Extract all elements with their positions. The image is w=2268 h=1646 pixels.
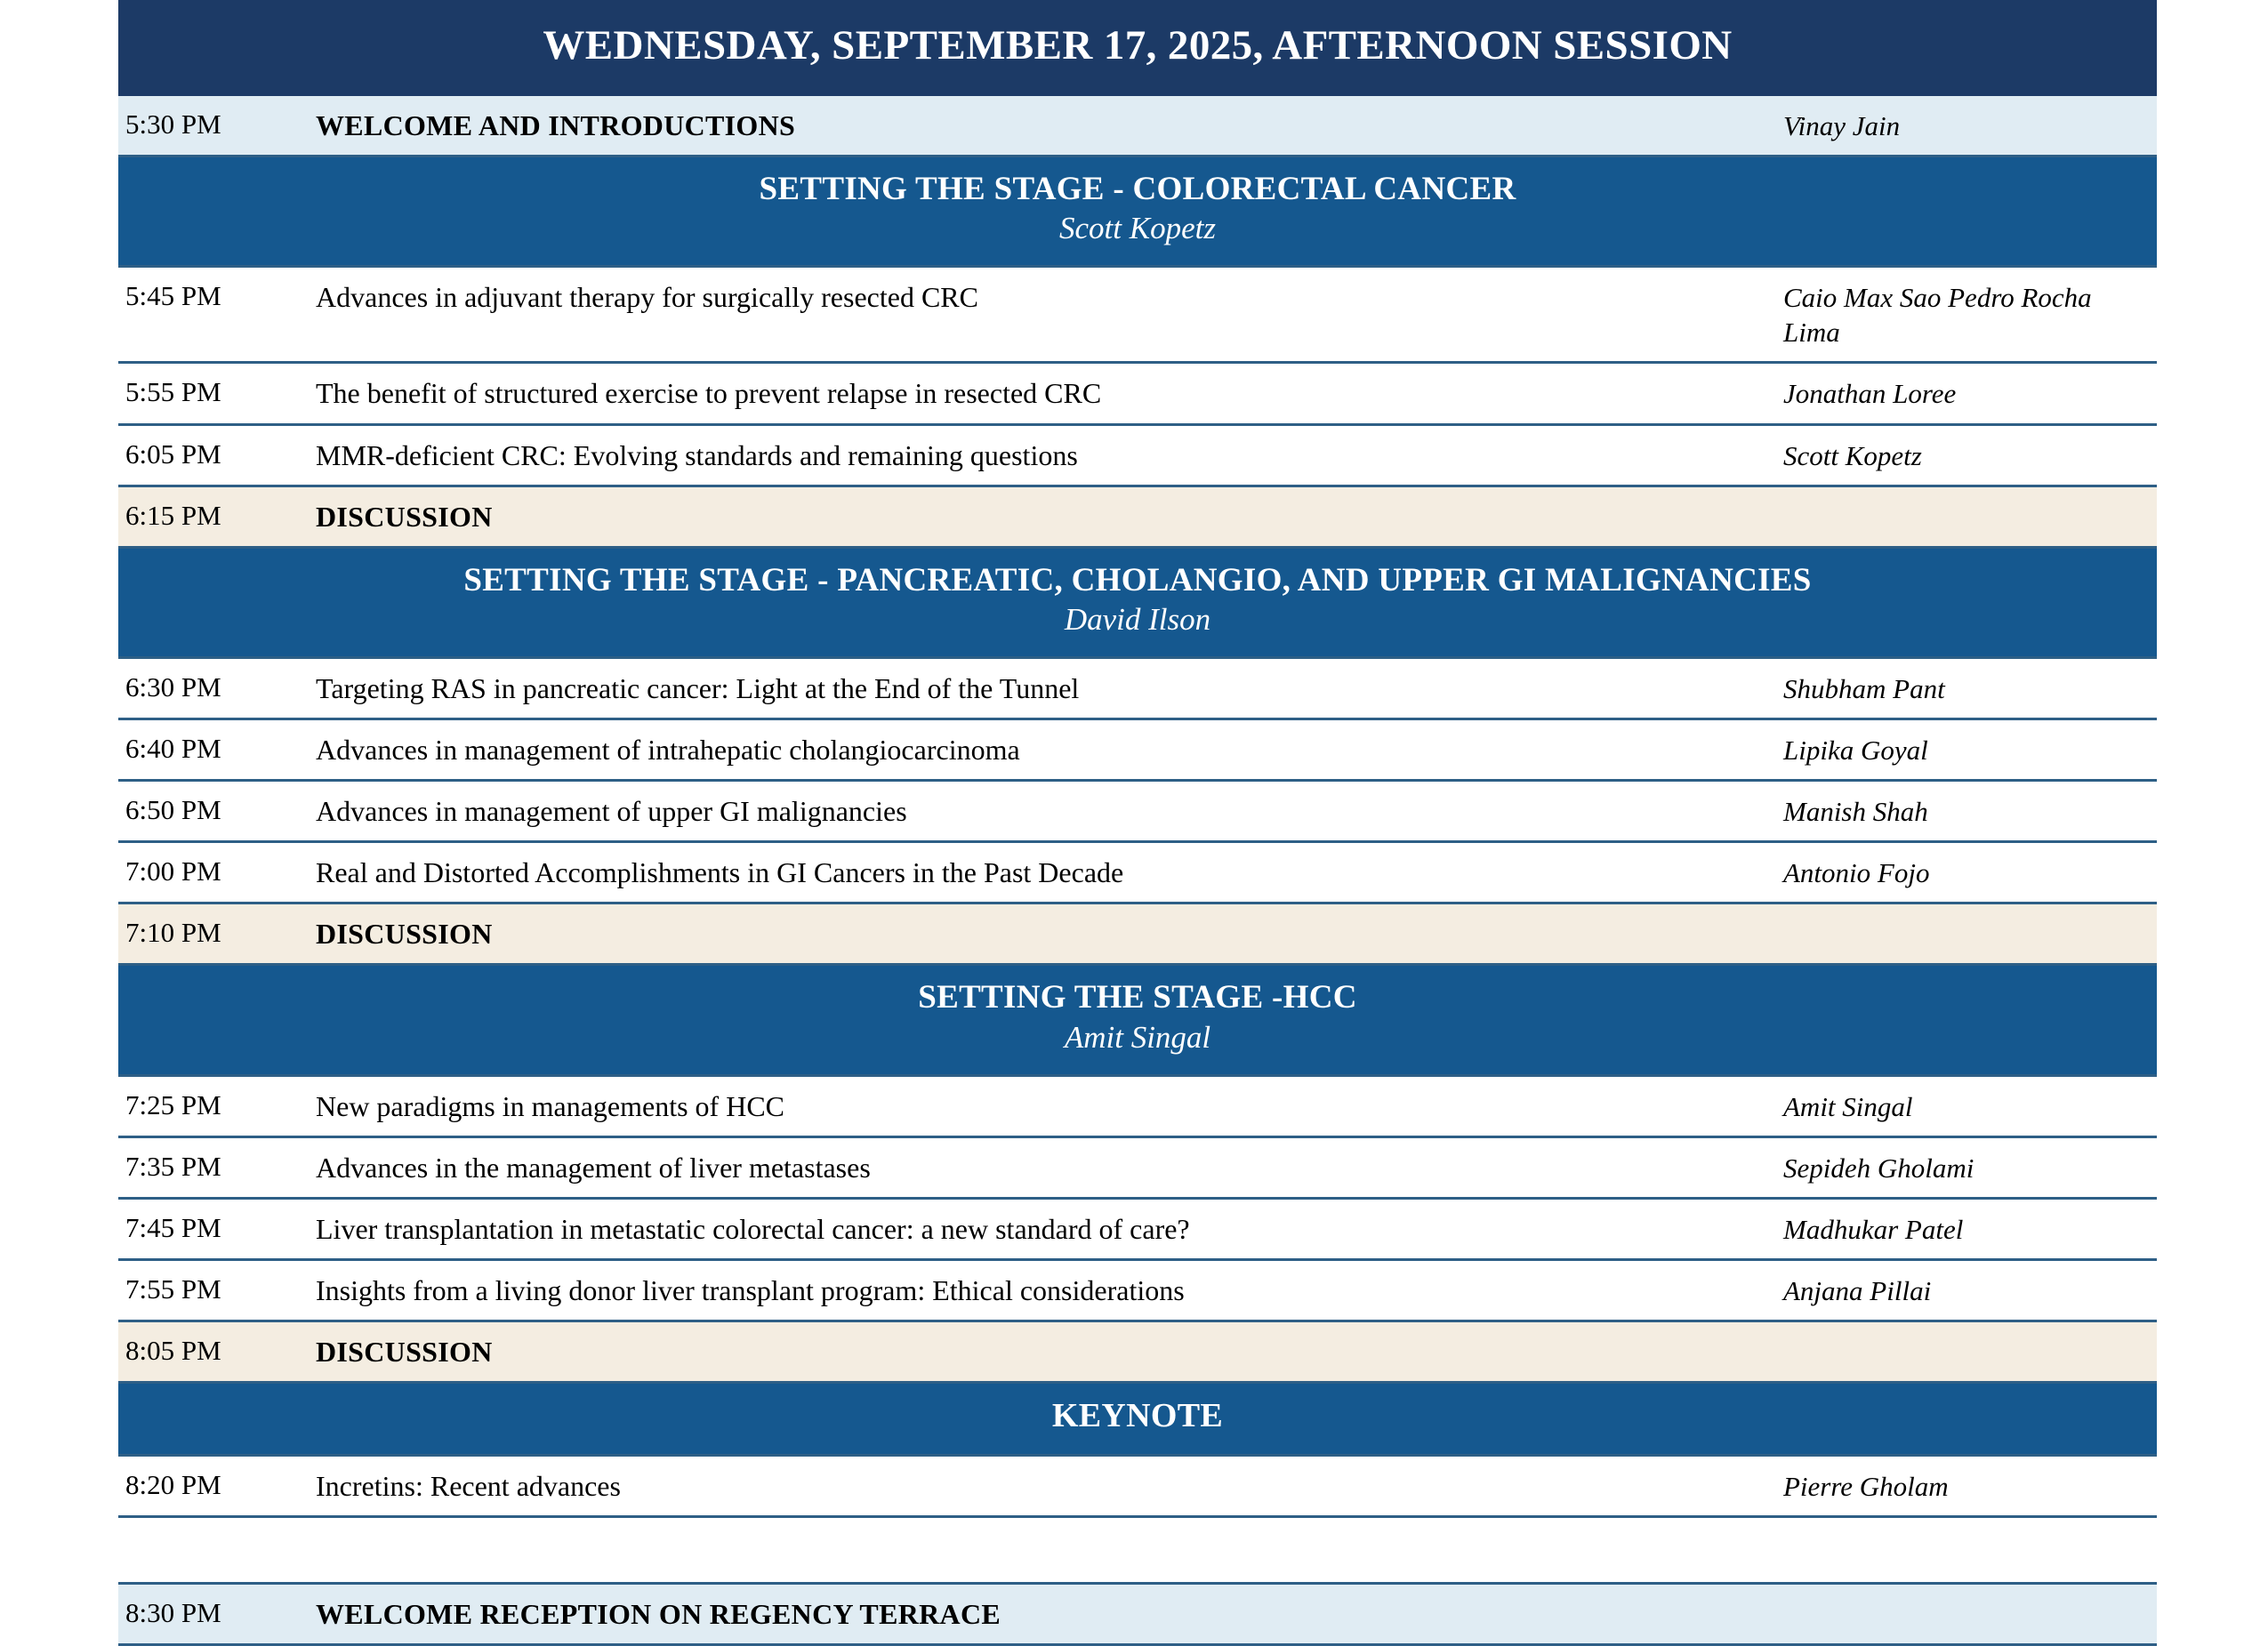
section-header: KEYNOTE — [118, 1384, 2157, 1457]
row-speaker: Vinay Jain — [1783, 96, 2157, 155]
row-title: Advances in the management of liver meta… — [316, 1138, 1783, 1197]
row-speaker: Lipika Goyal — [1783, 720, 2157, 779]
row-time: 7:25 PM — [118, 1077, 316, 1133]
row-title: DISCUSSION — [316, 487, 1783, 546]
agenda-row: 8:20 PMIncretins: Recent advancesPierre … — [118, 1457, 2157, 1518]
row-time: 5:55 PM — [118, 364, 316, 420]
row-title: MMR-deficient CRC: Evolving standards an… — [316, 426, 1783, 485]
row-time: 6:50 PM — [118, 782, 316, 838]
row-speaker — [1783, 1585, 2157, 1609]
row-time: 6:30 PM — [118, 659, 316, 715]
agenda-spacer — [118, 1527, 2157, 1585]
row-speaker: Anjana Pillai — [1783, 1261, 2157, 1320]
section-title: SETTING THE STAGE - COLORECTAL CANCER — [145, 170, 2130, 209]
row-speaker — [1783, 904, 2157, 928]
row-title: Targeting RAS in pancreatic cancer: Ligh… — [316, 659, 1783, 718]
row-time: 6:05 PM — [118, 426, 316, 482]
row-title: Advances in management of upper GI malig… — [316, 782, 1783, 840]
agenda-row: 7:10 PMDISCUSSION — [118, 904, 2157, 966]
row-time: 7:00 PM — [118, 843, 316, 899]
agenda-row: 7:45 PMLiver transplantation in metastat… — [118, 1200, 2157, 1261]
row-speaker: Manish Shah — [1783, 782, 2157, 840]
row-title: Liver transplantation in metastatic colo… — [316, 1200, 1783, 1258]
row-speaker: Amit Singal — [1783, 1077, 2157, 1136]
row-title: DISCUSSION — [316, 1322, 1783, 1381]
agenda-row: 8:30 PMWELCOME RECEPTION ON REGENCY TERR… — [118, 1585, 2157, 1646]
row-speaker: Jonathan Loree — [1783, 364, 2157, 422]
section-header: SETTING THE STAGE - PANCREATIC, CHOLANGI… — [118, 549, 2157, 660]
row-title: Advances in adjuvant therapy for surgica… — [316, 268, 1783, 326]
row-speaker: Scott Kopetz — [1783, 426, 2157, 485]
row-speaker — [1783, 1322, 2157, 1346]
row-speaker — [1783, 487, 2157, 511]
row-time: 7:55 PM — [118, 1261, 316, 1317]
row-title: Insights from a living donor liver trans… — [316, 1261, 1783, 1320]
page-title: WEDNESDAY, SEPTEMBER 17, 2025, AFTERNOON… — [118, 0, 2157, 96]
row-time: 8:20 PM — [118, 1457, 316, 1513]
agenda-row: 8:05 PMDISCUSSION — [118, 1322, 2157, 1384]
row-time: 5:30 PM — [118, 96, 316, 152]
row-time: 8:30 PM — [118, 1585, 316, 1641]
section-moderator: David Ilson — [145, 601, 2130, 638]
row-title: New paradigms in managements of HCC — [316, 1077, 1783, 1136]
row-time: 7:10 PM — [118, 904, 316, 960]
section-title: KEYNOTE — [145, 1396, 2130, 1436]
row-speaker: Sepideh Gholami — [1783, 1138, 2157, 1197]
row-time: 5:45 PM — [118, 268, 316, 324]
section-title: SETTING THE STAGE - PANCREATIC, CHOLANGI… — [145, 561, 2130, 600]
agenda-page: WEDNESDAY, SEPTEMBER 17, 2025, AFTERNOON… — [0, 0, 2268, 1565]
section-header: SETTING THE STAGE -HCCAmit Singal — [118, 966, 2157, 1077]
row-time: 7:35 PM — [118, 1138, 316, 1194]
agenda-row: 5:30 PMWELCOME AND INTRODUCTIONSVinay Ja… — [118, 96, 2157, 157]
row-title: Advances in management of intrahepatic c… — [316, 720, 1783, 779]
row-speaker: Antonio Fojo — [1783, 843, 2157, 902]
row-time: 7:45 PM — [118, 1200, 316, 1256]
row-speaker: Madhukar Patel — [1783, 1200, 2157, 1258]
row-time: 6:40 PM — [118, 720, 316, 776]
row-title: WELCOME AND INTRODUCTIONS — [316, 96, 1783, 155]
agenda-table: 5:30 PMWELCOME AND INTRODUCTIONSVinay Ja… — [118, 96, 2157, 1646]
section-title: SETTING THE STAGE -HCC — [145, 978, 2130, 1017]
agenda-row: 6:40 PMAdvances in management of intrahe… — [118, 720, 2157, 782]
agenda-gap — [118, 1518, 2157, 1527]
agenda-row: 6:15 PMDISCUSSION — [118, 487, 2157, 549]
agenda-row: 7:25 PMNew paradigms in managements of H… — [118, 1077, 2157, 1138]
section-header: SETTING THE STAGE - COLORECTAL CANCERSco… — [118, 157, 2157, 269]
row-title: Incretins: Recent advances — [316, 1457, 1783, 1515]
agenda-row: 7:55 PMInsights from a living donor live… — [118, 1261, 2157, 1322]
row-time: 6:15 PM — [118, 487, 316, 543]
row-title: Real and Distorted Accomplishments in GI… — [316, 843, 1783, 902]
row-speaker: Pierre Gholam — [1783, 1457, 2157, 1515]
row-title: DISCUSSION — [316, 904, 1783, 963]
agenda-row: 6:50 PMAdvances in management of upper G… — [118, 782, 2157, 843]
section-moderator: Scott Kopetz — [145, 210, 2130, 247]
agenda-row: 6:05 PMMMR-deficient CRC: Evolving stand… — [118, 426, 2157, 487]
agenda-row: 7:35 PMAdvances in the management of liv… — [118, 1138, 2157, 1200]
agenda-row: 6:30 PMTargeting RAS in pancreatic cance… — [118, 659, 2157, 720]
row-title: WELCOME RECEPTION ON REGENCY TERRACE — [316, 1585, 1783, 1643]
agenda-row: 5:55 PMThe benefit of structured exercis… — [118, 364, 2157, 425]
row-speaker: Shubham Pant — [1783, 659, 2157, 718]
row-time: 8:05 PM — [118, 1322, 316, 1378]
section-moderator: Amit Singal — [145, 1019, 2130, 1056]
row-title: The benefit of structured exercise to pr… — [316, 364, 1783, 422]
row-speaker: Caio Max Sao Pedro Rocha Lima — [1783, 268, 2157, 361]
agenda-row: 7:00 PMReal and Distorted Accomplishment… — [118, 843, 2157, 904]
agenda-row: 5:45 PMAdvances in adjuvant therapy for … — [118, 268, 2157, 364]
